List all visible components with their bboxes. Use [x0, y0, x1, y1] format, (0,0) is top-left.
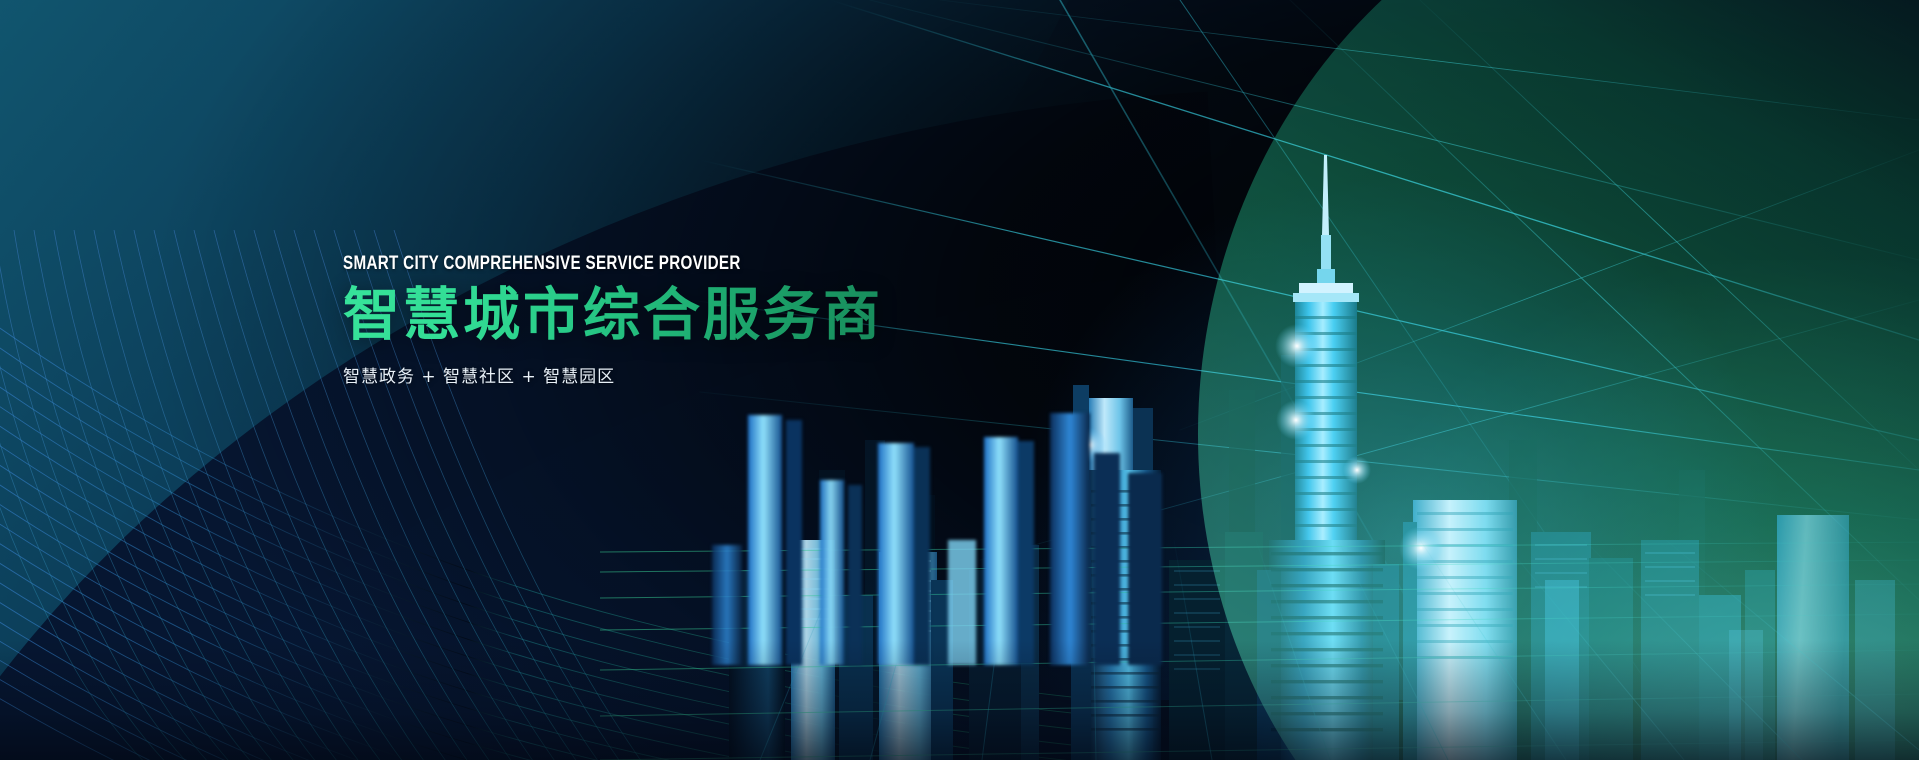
- hero-copy-block: SMART CITY COMPREHENSIVE SERVICE PROVIDE…: [343, 253, 883, 387]
- smart-city-hero-banner: SMART CITY COMPREHENSIVE SERVICE PROVIDE…: [0, 0, 1919, 760]
- foreground-blurred-slabs: [690, 385, 1250, 665]
- page-title: 智慧城市综合服务商: [343, 284, 883, 348]
- subtitle-services: 智慧政务 + 智慧社区 + 智慧园区: [343, 362, 883, 387]
- eyebrow-tagline: SMART CITY COMPREHENSIVE SERVICE PROVIDE…: [343, 253, 775, 275]
